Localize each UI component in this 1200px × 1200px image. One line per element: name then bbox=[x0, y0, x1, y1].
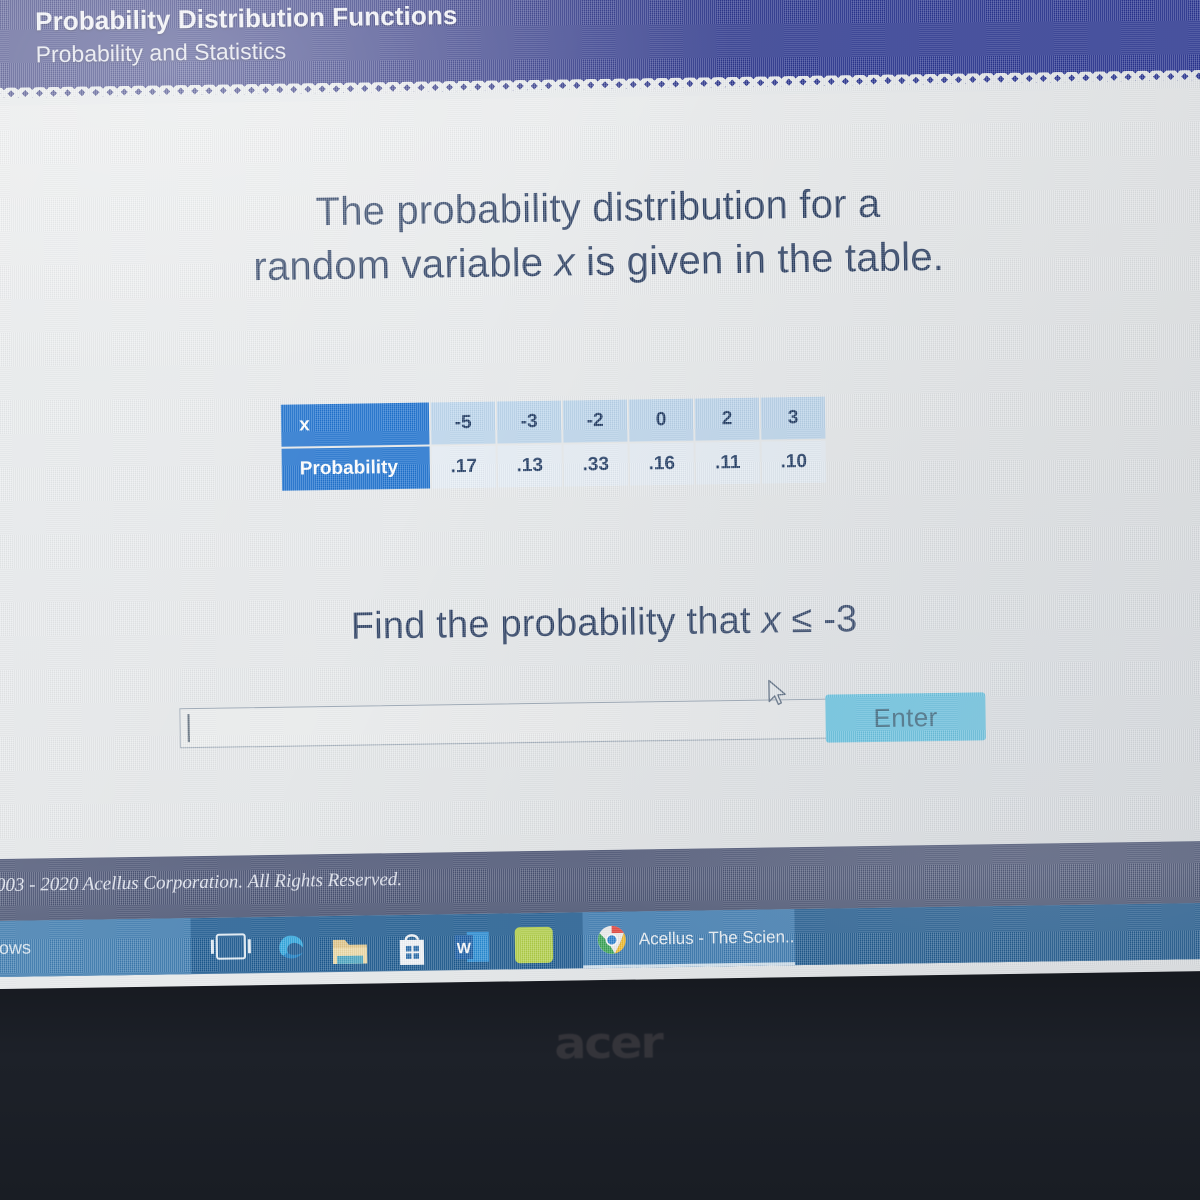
taskbar-window-label: Acellus - The Scien... bbox=[639, 927, 800, 949]
green-app-icon[interactable] bbox=[515, 927, 554, 964]
answer-input[interactable] bbox=[179, 699, 830, 749]
text-caret bbox=[187, 714, 189, 742]
question-prompt: The probability distribution for a rando… bbox=[0, 173, 1200, 299]
x-cell: 3 bbox=[761, 397, 826, 440]
taskbar-window-acellus[interactable]: Acellus - The Scien... bbox=[582, 909, 795, 968]
x-cell: -5 bbox=[431, 402, 496, 445]
task-view-icon[interactable] bbox=[216, 933, 246, 959]
probability-cell: .17 bbox=[431, 446, 496, 489]
probability-cell: .13 bbox=[497, 445, 562, 488]
table-row-probability: Probability .17 .13 .33 .16 .11 .10 bbox=[282, 441, 827, 491]
prompt-variable-x: x bbox=[554, 240, 575, 284]
chrome-icon bbox=[597, 925, 627, 955]
question-before: Find the probability that bbox=[350, 600, 761, 648]
lesson-title: Probability Distribution Functions bbox=[35, 0, 458, 37]
mouse-cursor-icon bbox=[767, 679, 789, 709]
prompt-line-2-before: random variable bbox=[253, 240, 555, 288]
lesson-header-bar: Probability Distribution Functions Proba… bbox=[0, 0, 1200, 99]
question-text: Find the probability that x ≤ -3 bbox=[0, 593, 1200, 654]
lesson-content: The probability distribution for a rando… bbox=[0, 81, 1200, 859]
acer-brand-logo: acer bbox=[500, 1017, 717, 1071]
probability-cell: .10 bbox=[761, 441, 826, 484]
probability-distribution-table: x -5 -3 -2 0 2 3 Probability .17 .13 .33… bbox=[279, 395, 828, 493]
svg-text:W: W bbox=[457, 940, 472, 957]
x-cell: -2 bbox=[563, 400, 628, 443]
question-variable-x: x bbox=[761, 599, 781, 641]
monitor-bezel bbox=[0, 960, 1200, 1200]
photo-of-screen: acer Probability Distribution Functions … bbox=[0, 0, 1200, 1200]
probability-cell: .11 bbox=[695, 442, 760, 485]
word-icon[interactable]: W bbox=[453, 928, 492, 967]
x-cell: 0 bbox=[629, 399, 694, 442]
enter-button[interactable]: Enter bbox=[825, 692, 986, 742]
row-label-probability: Probability bbox=[282, 447, 431, 491]
screen-surface: Probability Distribution Functions Proba… bbox=[0, 0, 1200, 989]
probability-cell: .33 bbox=[563, 444, 628, 487]
taskbar-search-text: ows bbox=[0, 938, 31, 959]
x-cell: 2 bbox=[695, 398, 760, 441]
microsoft-store-icon[interactable] bbox=[393, 929, 432, 968]
x-cell: -3 bbox=[497, 401, 562, 444]
question-after: ≤ -3 bbox=[780, 598, 857, 641]
copyright-text: 003 - 2020 Acellus Corporation. All Righ… bbox=[0, 869, 402, 897]
taskbar-right-region bbox=[794, 903, 1200, 965]
taskbar-search-box[interactable]: ows bbox=[0, 918, 191, 977]
table-row-x: x -5 -3 -2 0 2 3 bbox=[281, 397, 826, 447]
lesson-subject: Probability and Statistics bbox=[35, 38, 286, 69]
probability-cell: .16 bbox=[629, 443, 694, 486]
prompt-line-2-after: is given in the table. bbox=[574, 234, 944, 283]
row-label-x: x bbox=[281, 403, 430, 447]
edge-icon[interactable] bbox=[271, 926, 310, 965]
file-explorer-icon[interactable] bbox=[331, 932, 370, 971]
